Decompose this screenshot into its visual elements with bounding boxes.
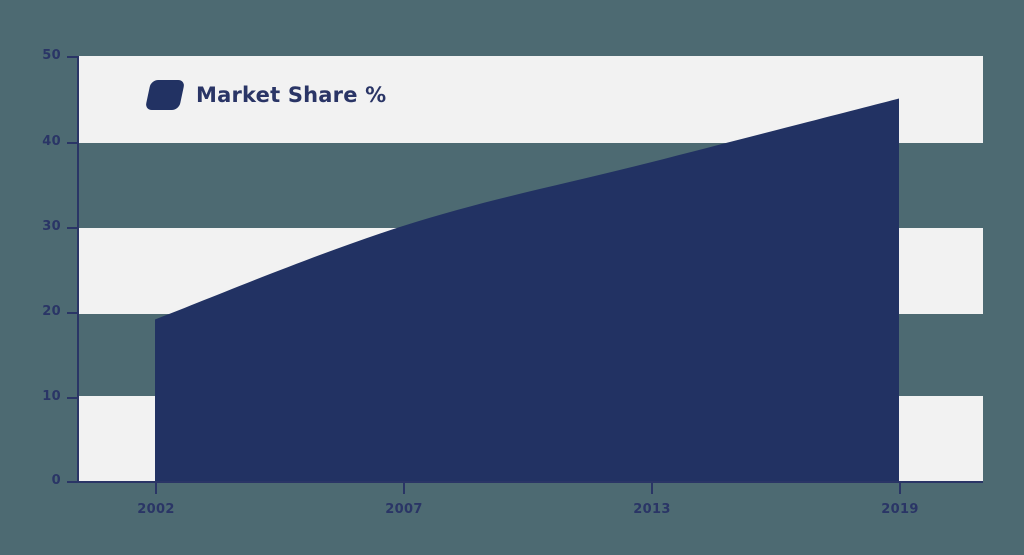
x-tick-mark-2007 [403,483,405,494]
chart-legend: Market Share % [148,80,386,110]
legend-label-market-share: Market Share % [196,83,386,107]
x-tick-label-2019: 2019 [881,502,918,517]
y-tick-label-50: 50 [36,48,61,63]
x-tick-label-2013: 2013 [633,502,670,517]
y-tick-mark-30 [67,227,77,229]
legend-swatch-market-share [145,80,185,110]
y-tick-label-0: 0 [36,473,61,488]
x-tick-label-2002: 2002 [137,502,174,517]
area-chart: 50 40 30 20 10 0 2002 2007 2013 2019 Mar… [0,0,1024,555]
x-tick-mark-2019 [899,483,901,494]
x-tick-mark-2002 [155,483,157,494]
y-tick-mark-0 [67,481,77,483]
y-tick-label-30: 30 [36,219,61,234]
y-tick-mark-50 [67,56,77,58]
y-tick-label-10: 10 [36,389,61,404]
y-tick-label-20: 20 [36,304,61,319]
y-axis-line [77,56,79,483]
x-axis-line [77,481,983,483]
y-tick-label-40: 40 [36,134,61,149]
y-tick-mark-10 [67,397,77,399]
y-tick-mark-40 [67,142,77,144]
y-tick-mark-20 [67,312,77,314]
x-tick-label-2007: 2007 [385,502,422,517]
x-tick-mark-2013 [651,483,653,494]
